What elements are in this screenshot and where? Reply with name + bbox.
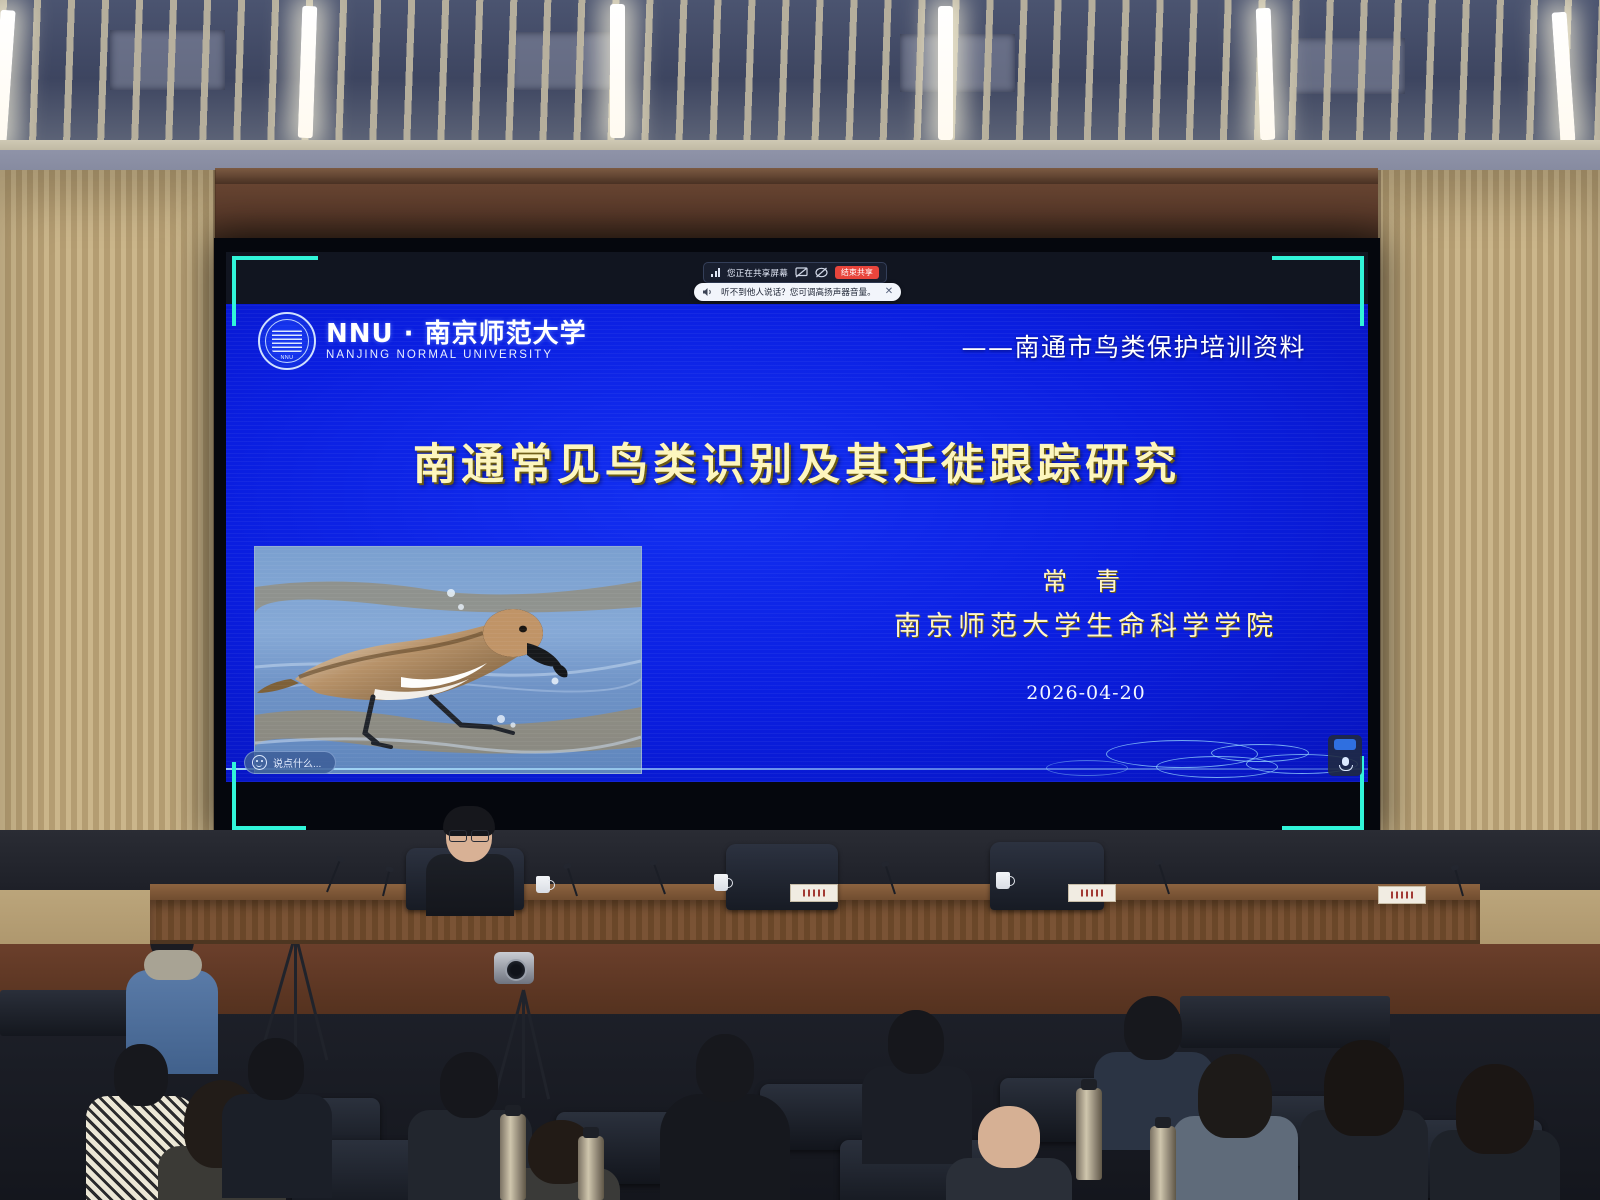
tea-mug <box>714 874 728 891</box>
microphone-icon[interactable] <box>1338 756 1353 772</box>
nnu-seal-text: NNU <box>260 355 314 361</box>
tea-mug <box>996 872 1010 889</box>
slide-author: 常 青 <box>806 562 1366 598</box>
slide-wave-decoration <box>226 720 1368 782</box>
chat-input[interactable]: 说点什么... <box>244 751 336 774</box>
name-card <box>1068 884 1116 902</box>
mini-action-button[interactable] <box>1334 739 1356 750</box>
smiley-icon[interactable] <box>252 755 267 770</box>
signal-bars-icon <box>711 268 720 277</box>
name-card <box>790 884 838 902</box>
attendee <box>1300 1040 1428 1200</box>
end-share-button[interactable]: 结束共享 <box>835 266 879 279</box>
share-border-corner-top-left <box>232 256 318 326</box>
slide-date: 2026-04-20 <box>806 682 1366 704</box>
slide-affiliation: 南京师范大学生命科学学院 <box>786 604 1368 643</box>
slide-subtitle: ——南通市鸟类保护培训资料 <box>961 328 1306 364</box>
ceiling-light <box>938 6 953 140</box>
presentation-slide: NNU NNU · 南京师范大学 NANJING NORMAL UNIVERSI… <box>226 304 1368 782</box>
floating-mini-toolbar[interactable] <box>1328 735 1362 776</box>
screen-share-toolbar[interactable]: 您正在共享屏幕 结束共享 <box>703 262 887 283</box>
ceiling-light <box>610 4 625 138</box>
share-border-corner-top-right <box>1272 256 1364 326</box>
attendee <box>660 1034 790 1200</box>
glasses-icon <box>449 830 489 840</box>
video-camera <box>494 952 534 984</box>
nnu-english-name: NANJING NORMAL UNIVERSITY <box>326 349 587 361</box>
thermos-flask <box>1150 1126 1176 1200</box>
share-status-label: 您正在共享屏幕 <box>727 267 788 279</box>
name-card <box>1378 886 1426 904</box>
video-off-icon[interactable] <box>815 267 828 278</box>
nnu-chinese-name: NNU · 南京师范大学 <box>326 321 587 347</box>
attendee <box>1430 1064 1560 1200</box>
chat-placeholder: 说点什么... <box>273 755 321 770</box>
thermos-flask <box>500 1114 526 1200</box>
auditorium-photo: NNU NNU · 南京师范大学 NANJING NORMAL UNIVERSI… <box>0 0 1600 1200</box>
attendee <box>222 1038 332 1188</box>
slide-title: 南通常见鸟类识别及其迁徙跟踪研究 <box>226 430 1368 492</box>
close-icon[interactable]: ✕ <box>885 287 893 297</box>
presenter <box>424 810 516 910</box>
audio-hint-toast[interactable]: 听不到他人说话？您可调高扬声器音量。 ✕ <box>694 283 901 301</box>
thermos-flask <box>578 1136 604 1200</box>
audience-area <box>0 944 1600 1200</box>
audio-hint-text: 听不到他人说话？您可调高扬声器音量。 <box>721 286 876 298</box>
attendee <box>1172 1054 1298 1200</box>
speaker-icon <box>702 287 715 298</box>
tea-mug <box>536 876 550 893</box>
wall-trim <box>215 168 1378 184</box>
attendee <box>946 1106 1072 1200</box>
thermos-flask <box>1076 1088 1102 1180</box>
share-screen-off-icon[interactable] <box>795 267 808 278</box>
